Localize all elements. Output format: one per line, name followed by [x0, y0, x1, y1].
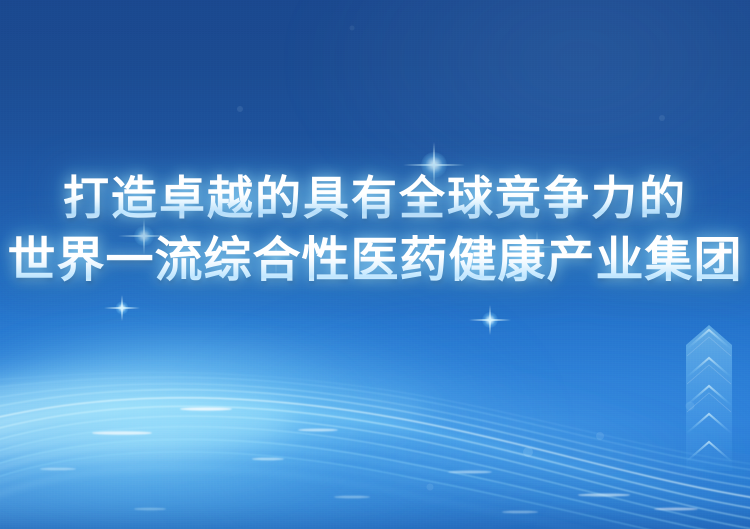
wave-haze-band	[0, 336, 750, 529]
promotional-banner: 打造卓越的具有全球竞争力的 世界一流综合性医药健康产业集团	[0, 0, 750, 529]
sparkle-icon-5	[466, 296, 514, 344]
headline-block: 打造卓越的具有全球竞争力的 世界一流综合性医药健康产业集团	[0, 168, 750, 294]
wave-line-group-soft	[0, 380, 750, 529]
wave-crest-halo	[0, 382, 430, 458]
chevron-stack	[686, 323, 732, 471]
headline-line-2: 世界一流综合性医药健康产业集团	[0, 228, 750, 294]
wave-glints	[40, 407, 698, 513]
glow-pool-right	[180, 300, 750, 529]
headline-line-1: 打造卓越的具有全球竞争力的	[0, 168, 750, 228]
wave-line-group-crisp	[0, 372, 750, 529]
chevron-group	[686, 325, 732, 471]
glow-pool-core	[0, 330, 360, 510]
